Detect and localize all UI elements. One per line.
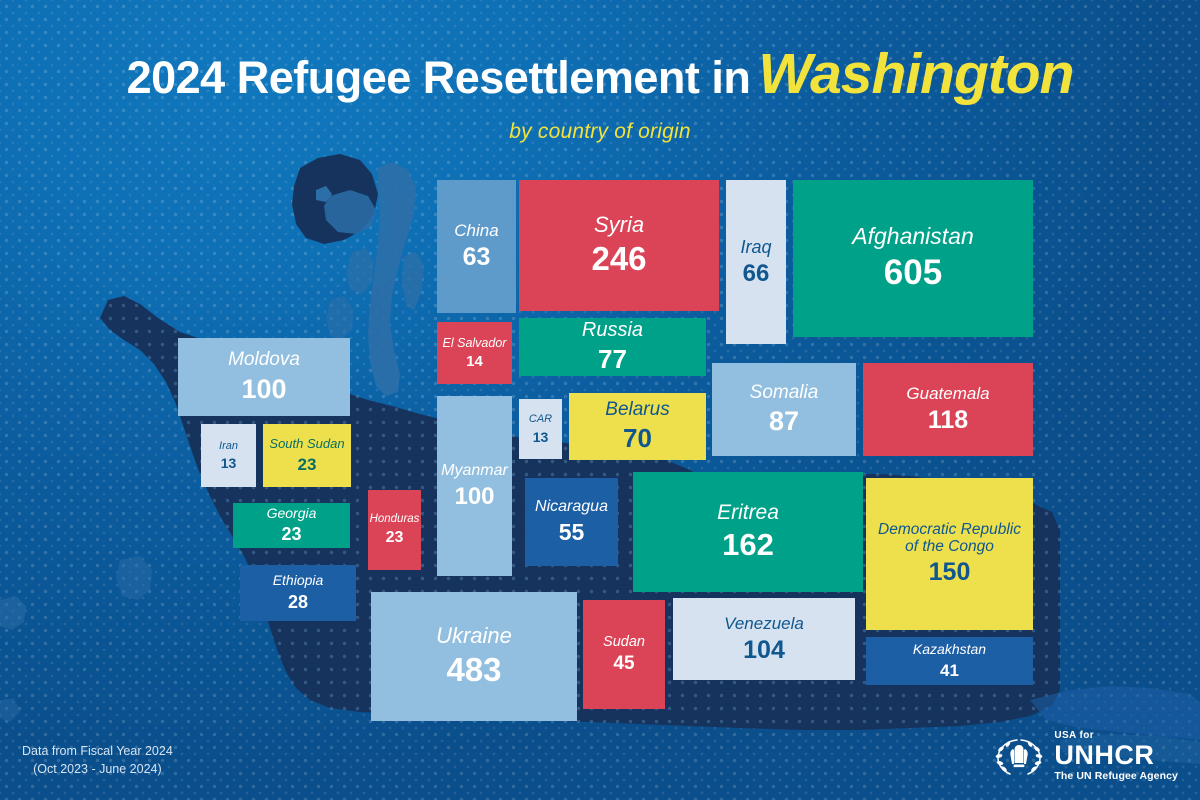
treemap-cell[interactable]: Iran13: [201, 424, 256, 487]
title-highlight-state: Washington: [758, 42, 1073, 106]
treemap-cell-country-label: Sudan: [603, 634, 645, 650]
treemap-cell-value: 41: [940, 661, 959, 681]
treemap-cell[interactable]: Nicaragua55: [525, 478, 618, 566]
treemap-cell-value: 605: [884, 253, 942, 293]
treemap-cell[interactable]: Syria246: [519, 180, 719, 311]
page-subtitle: by country of origin: [0, 120, 1200, 144]
treemap-cell-value: 246: [591, 240, 646, 278]
treemap-cell[interactable]: Georgia23: [233, 503, 350, 548]
treemap-cell-country-label: Moldova: [228, 349, 300, 370]
treemap-cell-value: 118: [928, 406, 968, 435]
treemap-cell-value: 28: [288, 592, 308, 613]
unhcr-logo-text: USA for UNHCR The UN Refugee Agency: [1054, 731, 1178, 782]
treemap-cell[interactable]: Ukraine483: [371, 592, 577, 721]
data-source-line-1: Data from Fiscal Year 2024: [22, 742, 173, 760]
title-main-text: 2024 Refugee Resettlement in: [127, 52, 751, 103]
treemap-cell[interactable]: Myanmar100: [437, 396, 512, 576]
treemap-cell[interactable]: CAR13: [519, 399, 562, 459]
logo-tagline: The UN Refugee Agency: [1054, 771, 1178, 782]
treemap-cell-country-label: Afghanistan: [852, 224, 973, 250]
treemap-cell[interactable]: Kazakhstan41: [866, 637, 1033, 685]
treemap-cell[interactable]: Afghanistan605: [793, 180, 1033, 337]
treemap-cell-country-label: China: [454, 221, 498, 240]
treemap-cell-value: 162: [722, 527, 774, 563]
treemap-cell[interactable]: Sudan45: [583, 600, 665, 709]
treemap-cell-country-label: Nicaragua: [535, 498, 608, 516]
treemap-cell-country-label: El Salvador: [443, 336, 507, 350]
treemap-cell-value: 23: [298, 455, 317, 475]
treemap-cell-country-label: Belarus: [605, 399, 669, 420]
infographic-poster: 2024 Refugee Resettlement inWashington b…: [0, 0, 1200, 800]
treemap-cell-value: 55: [559, 519, 585, 545]
data-source-note: Data from Fiscal Year 2024 (Oct 2023 - J…: [22, 742, 173, 778]
treemap-cell-country-label: Iran: [219, 440, 238, 452]
treemap-cell-country-label: Georgia: [267, 506, 317, 522]
treemap-cell[interactable]: Moldova100: [178, 338, 350, 416]
treemap-cell[interactable]: Guatemala118: [863, 363, 1033, 456]
treemap-cell[interactable]: Ethiopia28: [240, 565, 356, 621]
treemap-cell[interactable]: Venezuela104: [673, 598, 855, 680]
treemap-cell-country-label: Venezuela: [724, 614, 804, 633]
treemap-cell-country-label: South Sudan: [269, 437, 344, 452]
treemap-cell[interactable]: Belarus70: [569, 393, 706, 460]
treemap-cell[interactable]: Russia77: [519, 318, 706, 376]
unhcr-logo: USA for UNHCR The UN Refugee Agency: [993, 731, 1178, 782]
treemap-cell[interactable]: China63: [437, 180, 516, 313]
treemap-cell-country-label: Syria: [594, 213, 644, 238]
treemap-cell-country-label: Honduras: [370, 513, 420, 526]
treemap-cell-country-label: Iraq: [740, 237, 771, 257]
treemap-cell-value: 104: [743, 636, 785, 665]
treemap-cell[interactable]: Honduras23: [368, 490, 421, 570]
treemap-cell[interactable]: Iraq66: [726, 180, 786, 344]
treemap-cell-country-label: Ukraine: [436, 624, 512, 649]
treemap-cell-value: 23: [281, 524, 301, 545]
treemap-cell-value: 13: [533, 429, 549, 445]
treemap-cell-country-label: Eritrea: [717, 501, 779, 525]
treemap-cell-value: 13: [221, 455, 237, 471]
page-title: 2024 Refugee Resettlement inWashington: [0, 42, 1200, 108]
treemap-cell-country-label: CAR: [529, 413, 552, 425]
poster-header: 2024 Refugee Resettlement inWashington b…: [0, 0, 1200, 144]
unhcr-laurel-hands-icon: [993, 733, 1045, 779]
treemap-cell-country-label: Myanmar: [441, 462, 508, 480]
logo-unhcr-wordmark: UNHCR: [1054, 742, 1178, 769]
treemap-cell[interactable]: Somalia87: [712, 363, 856, 456]
treemap-cell-value: 63: [463, 243, 491, 272]
treemap-cell-country-label: Guatemala: [906, 384, 989, 403]
treemap-cell-country-label: Kazakhstan: [913, 642, 986, 658]
treemap-cell-value: 87: [769, 406, 799, 437]
treemap-cell-value: 66: [743, 260, 770, 288]
treemap-cell-value: 45: [613, 653, 634, 675]
treemap-cell-value: 100: [454, 483, 494, 511]
treemap-cell[interactable]: El Salvador14: [437, 322, 512, 384]
treemap-cell-country-label: Ethiopia: [273, 573, 324, 589]
treemap-cell-value: 150: [929, 558, 971, 587]
treemap-cell[interactable]: South Sudan23: [263, 424, 351, 487]
treemap-cell[interactable]: Eritrea162: [633, 472, 863, 592]
treemap-cell-value: 14: [466, 353, 483, 370]
treemap-cell-country-label: Democratic Republic of the Congo: [878, 521, 1021, 556]
treemap-cell[interactable]: Democratic Republic of the Congo150: [866, 478, 1033, 630]
treemap-cell-value: 70: [623, 424, 652, 454]
treemap-cell-value: 483: [446, 651, 501, 689]
treemap-cell-country-label: Russia: [582, 319, 643, 341]
treemap-cell-value: 100: [241, 374, 286, 405]
treemap-cell-country-label: Somalia: [750, 382, 819, 403]
treemap-cell-value: 77: [598, 345, 627, 375]
treemap-cell-value: 23: [386, 529, 404, 547]
data-source-line-2: (Oct 2023 - June 2024): [22, 760, 173, 778]
